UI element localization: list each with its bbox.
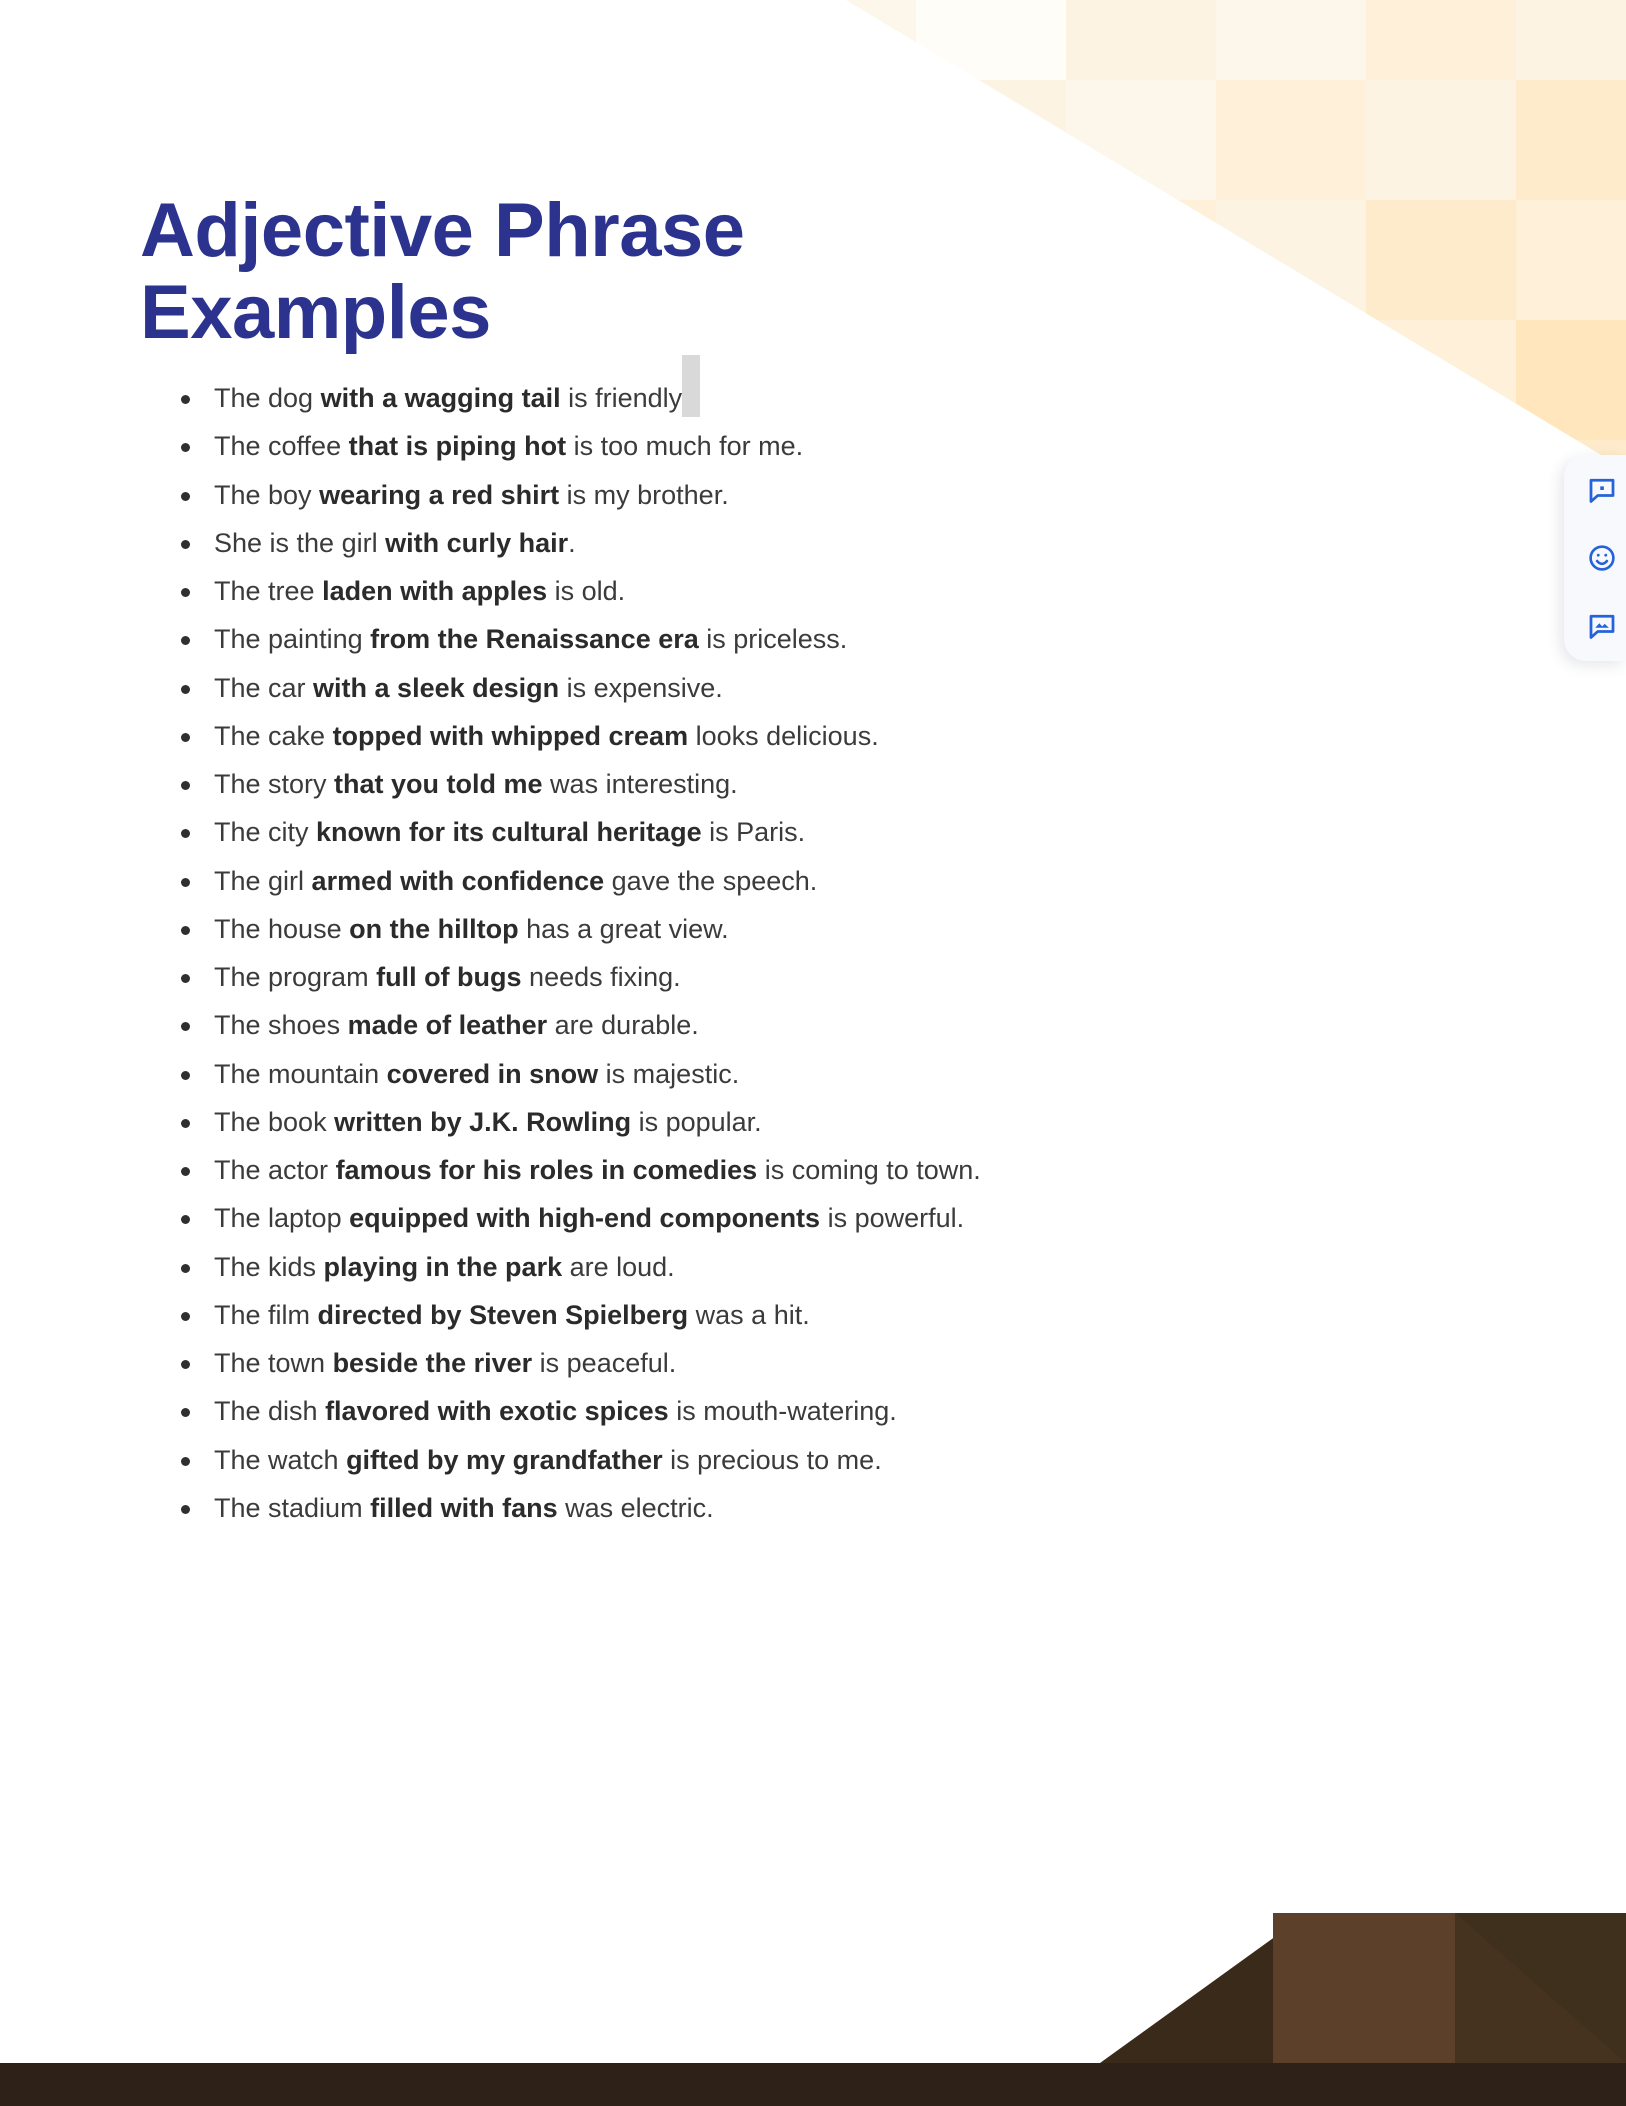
sentence-lead: The actor (214, 1155, 336, 1185)
sentence-tail: is precious to me. (663, 1445, 882, 1475)
sentence-tail: was a hit. (688, 1300, 810, 1330)
checker-cell (1216, 440, 1366, 470)
list-item: The kids playing in the park are loud. (140, 1249, 1180, 1286)
sentence-lead: The shoes (214, 1010, 348, 1040)
decorative-bottom-blocks (0, 1846, 1626, 2106)
bullet-icon (181, 733, 190, 742)
image-comment-icon[interactable] (1585, 609, 1619, 643)
sentence-lead: The story (214, 769, 334, 799)
bullet-icon (181, 1167, 190, 1176)
adjective-phrase: topped with whipped cream (333, 721, 689, 751)
bullet-icon (181, 588, 190, 597)
sentence-tail: is majestic. (598, 1059, 739, 1089)
sentence-lead: The town (214, 1348, 333, 1378)
bullet-icon (181, 492, 190, 501)
sentence-lead: The kids (214, 1252, 324, 1282)
bullet-icon (181, 878, 190, 887)
sentence-lead: The boy (214, 480, 319, 510)
text-cursor-caret[interactable] (682, 355, 700, 417)
page-title: Adjective Phrase Examples (140, 190, 780, 354)
list-item: The tree laden with apples is old. (140, 573, 1180, 610)
sentence-tail: is too much for me. (566, 431, 803, 461)
sentence-tail: is powerful. (820, 1203, 964, 1233)
checker-cell (1516, 80, 1626, 200)
checker-cell (1366, 320, 1516, 440)
sentence-lead: The city (214, 817, 316, 847)
adjective-phrase: with a wagging tail (321, 383, 561, 413)
checker-cell (1516, 200, 1626, 320)
adjective-phrase: known for its cultural heritage (316, 817, 702, 847)
brown-slab-right (1455, 1913, 1626, 2063)
bullet-icon (181, 395, 190, 404)
bullet-icon (181, 829, 190, 838)
bullet-icon (181, 781, 190, 790)
sentence-lead: The film (214, 1300, 318, 1330)
list-item: The book written by J.K. Rowling is popu… (140, 1104, 1180, 1141)
sentence-lead: The dog (214, 383, 321, 413)
adjective-phrase: made of leather (348, 1010, 548, 1040)
list-item: The car with a sleek design is expensive… (140, 670, 1180, 707)
sentence-tail: are loud. (562, 1252, 675, 1282)
list-item: The watch gifted by my grandfather is pr… (140, 1442, 1180, 1479)
sentence-tail: has a great view. (519, 914, 729, 944)
sentence-tail: is friendly. (561, 383, 688, 413)
bullet-icon (181, 1215, 190, 1224)
checker-cell (1516, 0, 1626, 80)
adjective-phrase: famous for his roles in comedies (336, 1155, 758, 1185)
checker-cell (1366, 440, 1516, 470)
adjective-phrase: filled with fans (370, 1493, 558, 1523)
adjective-phrase: beside the river (333, 1348, 533, 1378)
bullet-icon (181, 1264, 190, 1273)
sentence-tail: . (568, 528, 576, 558)
bullet-icon (181, 1408, 190, 1417)
bullet-icon (181, 636, 190, 645)
brown-slab-left (1100, 1913, 1308, 2063)
sentence-lead: The tree (214, 576, 322, 606)
list-item: The cake topped with whipped cream looks… (140, 718, 1180, 755)
sentence-tail: is old. (547, 576, 625, 606)
sentence-tail: is my brother. (559, 480, 729, 510)
checker-cell (1366, 0, 1516, 80)
sentence-lead: The car (214, 673, 313, 703)
adjective-phrase: equipped with high-end components (349, 1203, 820, 1233)
adjective-phrase: written by J.K. Rowling (334, 1107, 631, 1137)
list-item: The dog with a wagging tail is friendly. (140, 380, 1180, 417)
sentence-tail: is coming to town. (757, 1155, 981, 1185)
checker-cell (916, 0, 1066, 80)
document-page: Adjective Phrase Examples The dog with a… (0, 0, 1626, 2106)
sentence-lead: The house (214, 914, 349, 944)
adjective-phrase: gifted by my grandfather (346, 1445, 663, 1475)
adjective-phrase: flavored with exotic spices (325, 1396, 669, 1426)
list-item: The film directed by Steven Spielberg wa… (140, 1297, 1180, 1334)
sentence-tail: needs fixing. (522, 962, 681, 992)
adjective-phrase: from the Renaissance era (370, 624, 699, 654)
brown-slab-right-shade (1455, 1913, 1626, 2063)
sentence-lead: The watch (214, 1445, 346, 1475)
adjective-phrase: that is piping hot (349, 431, 566, 461)
sentence-tail: is priceless. (699, 624, 848, 654)
sentence-tail: is mouth-watering. (669, 1396, 897, 1426)
floating-comment-toolbar[interactable] (1564, 455, 1626, 661)
sentence-lead: The girl (214, 866, 312, 896)
sentence-lead: She is the girl (214, 528, 385, 558)
list-item: The coffee that is piping hot is too muc… (140, 428, 1180, 465)
checker-cell (846, 0, 916, 80)
comment-bubble-icon[interactable] (1585, 473, 1619, 507)
bullet-icon (181, 1360, 190, 1369)
list-item: The girl armed with confidence gave the … (140, 863, 1180, 900)
checker-cell (1216, 320, 1366, 440)
list-item: The boy wearing a red shirt is my brothe… (140, 477, 1180, 514)
brown-slab-mid (1273, 1913, 1455, 2063)
sentence-tail: looks delicious. (688, 721, 879, 751)
sentence-tail: was electric. (558, 1493, 714, 1523)
sentence-tail: are durable. (547, 1010, 699, 1040)
bullet-icon (181, 685, 190, 694)
sentence-lead: The mountain (214, 1059, 387, 1089)
sentence-tail: is popular. (631, 1107, 762, 1137)
bullet-icon (181, 1457, 190, 1466)
list-item: The town beside the river is peaceful. (140, 1345, 1180, 1382)
sentence-tail: is expensive. (559, 673, 723, 703)
sentence-lead: The program (214, 962, 376, 992)
sentence-lead: The coffee (214, 431, 349, 461)
sentence-lead: The laptop (214, 1203, 349, 1233)
adjective-phrase: that you told me (334, 769, 543, 799)
adjective-phrase: with curly hair (385, 528, 568, 558)
sentence-tail: was interesting. (543, 769, 738, 799)
adjective-phrase: with a sleek design (313, 673, 559, 703)
document-content: Adjective Phrase Examples The dog with a… (140, 190, 1180, 1538)
sentence-lead: The stadium (214, 1493, 370, 1523)
sentence-lead: The book (214, 1107, 334, 1137)
bullet-icon (181, 443, 190, 452)
bullet-icon (181, 1022, 190, 1031)
adjective-phrase: laden with apples (322, 576, 547, 606)
checker-cell (1066, 80, 1216, 200)
checker-cell (1216, 80, 1366, 200)
list-item: The laptop equipped with high-end compon… (140, 1200, 1180, 1237)
sentence-lead: The cake (214, 721, 333, 751)
bullet-icon (181, 1071, 190, 1080)
sentence-lead: The painting (214, 624, 370, 654)
adjective-phrase: on the hilltop (349, 914, 518, 944)
example-list: The dog with a wagging tail is friendly.… (140, 380, 1180, 1527)
bullet-icon (181, 926, 190, 935)
bottom-footer-bar (0, 2063, 1626, 2106)
bullet-icon (181, 974, 190, 983)
bullet-icon (181, 1119, 190, 1128)
list-item: She is the girl with curly hair. (140, 525, 1180, 562)
checker-cell (846, 80, 916, 200)
list-item: The program full of bugs needs fixing. (140, 959, 1180, 996)
checker-cell (1366, 200, 1516, 320)
adjective-phrase: wearing a red shirt (319, 480, 559, 510)
adjective-phrase: directed by Steven Spielberg (318, 1300, 689, 1330)
bullet-icon (181, 540, 190, 549)
adjective-phrase: playing in the park (324, 1252, 563, 1282)
checker-cell (1066, 0, 1216, 80)
sentence-lead: The dish (214, 1396, 325, 1426)
adjective-phrase: armed with confidence (312, 866, 605, 896)
checker-cell (1216, 0, 1366, 80)
list-item: The actor famous for his roles in comedi… (140, 1152, 1180, 1189)
bullet-icon (181, 1505, 190, 1514)
list-item: The painting from the Renaissance era is… (140, 621, 1180, 658)
list-item: The mountain covered in snow is majestic… (140, 1056, 1180, 1093)
sentence-tail: gave the speech. (604, 866, 817, 896)
checker-cell (1216, 200, 1366, 320)
adjective-phrase: covered in snow (387, 1059, 599, 1089)
checker-cell (916, 80, 1066, 200)
bullet-icon (181, 1312, 190, 1321)
sentence-tail: is peaceful. (532, 1348, 676, 1378)
list-item: The story that you told me was interesti… (140, 766, 1180, 803)
list-item: The stadium filled with fans was electri… (140, 1490, 1180, 1527)
list-item: The dish flavored with exotic spices is … (140, 1393, 1180, 1430)
list-item: The house on the hilltop has a great vie… (140, 911, 1180, 948)
list-item: The city known for its cultural heritage… (140, 814, 1180, 851)
checker-cell (1516, 320, 1626, 440)
emoji-smiley-icon[interactable] (1585, 541, 1619, 575)
adjective-phrase: full of bugs (376, 962, 521, 992)
checker-cell (1366, 80, 1516, 200)
sentence-tail: is Paris. (702, 817, 806, 847)
list-item: The shoes made of leather are durable. (140, 1007, 1180, 1044)
